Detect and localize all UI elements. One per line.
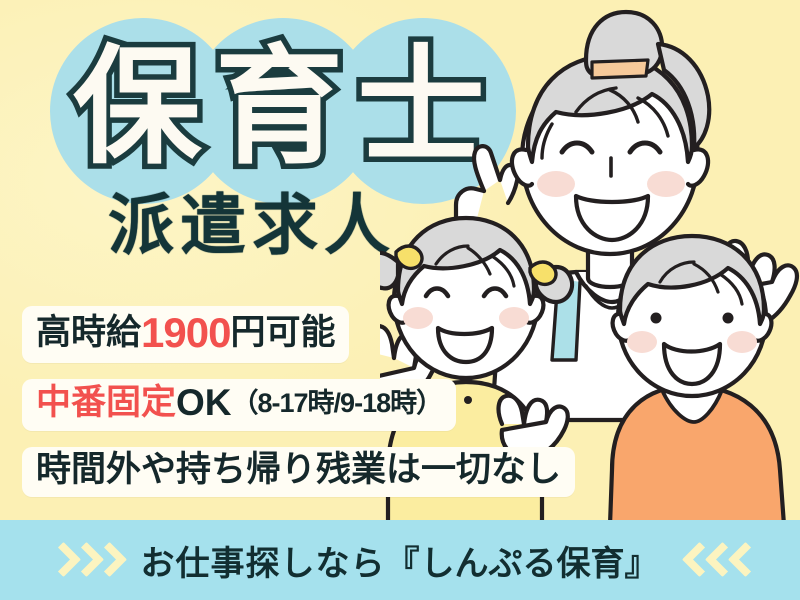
bottom-banner: お仕事探しなら『しんぷる保育』 (0, 520, 800, 600)
chevron-group-right (686, 543, 752, 577)
page-subtitle: 派遣求人 (108, 192, 396, 258)
chevron-left-icon (686, 543, 706, 577)
badge-shift-highlight: 中番固定 (36, 385, 176, 422)
feature-badge-list: 高時給1900円可能 中番固定OK（8-17時/9-18時） 時間外や持ち帰り残… (22, 306, 575, 497)
badge-overtime: 時間外や持ち帰り残業は一切なし (22, 447, 575, 497)
badge-shift-hours: （8-17時/9-18時） (232, 389, 443, 417)
badge-wage-part-0: 高時給 (36, 315, 141, 352)
banner-bracket-open: 『 (386, 545, 421, 583)
banner-bracket-close: 』 (625, 545, 660, 583)
poster-root: 保育士 派遣求人 高時給1900円可能 中番固定OK（8-17時/9-18時） … (0, 0, 800, 600)
badge-wage: 高時給1900円可能 (22, 306, 349, 363)
badge-wage-part-2: 円可能 (230, 315, 335, 352)
badge-wage-amount: 1900 (141, 311, 230, 355)
badge-shift-ok: OK (176, 384, 232, 423)
banner-brand-name: しんぷる保育 (421, 545, 625, 583)
chevron-left-icon (732, 543, 752, 577)
chevron-right-icon (72, 543, 92, 577)
banner-text: お仕事探しなら『しんぷる保育』 (141, 536, 660, 585)
chevron-left-icon (709, 543, 729, 577)
badge-overtime-text: 時間外や持ち帰り残業は一切なし (36, 452, 561, 489)
chevron-right-icon (95, 543, 115, 577)
chevron-right-icon (49, 543, 69, 577)
chevron-group-left (49, 543, 115, 577)
banner-lead-text: お仕事探しなら (141, 545, 386, 583)
badge-shift: 中番固定OK（8-17時/9-18時） (22, 379, 456, 431)
